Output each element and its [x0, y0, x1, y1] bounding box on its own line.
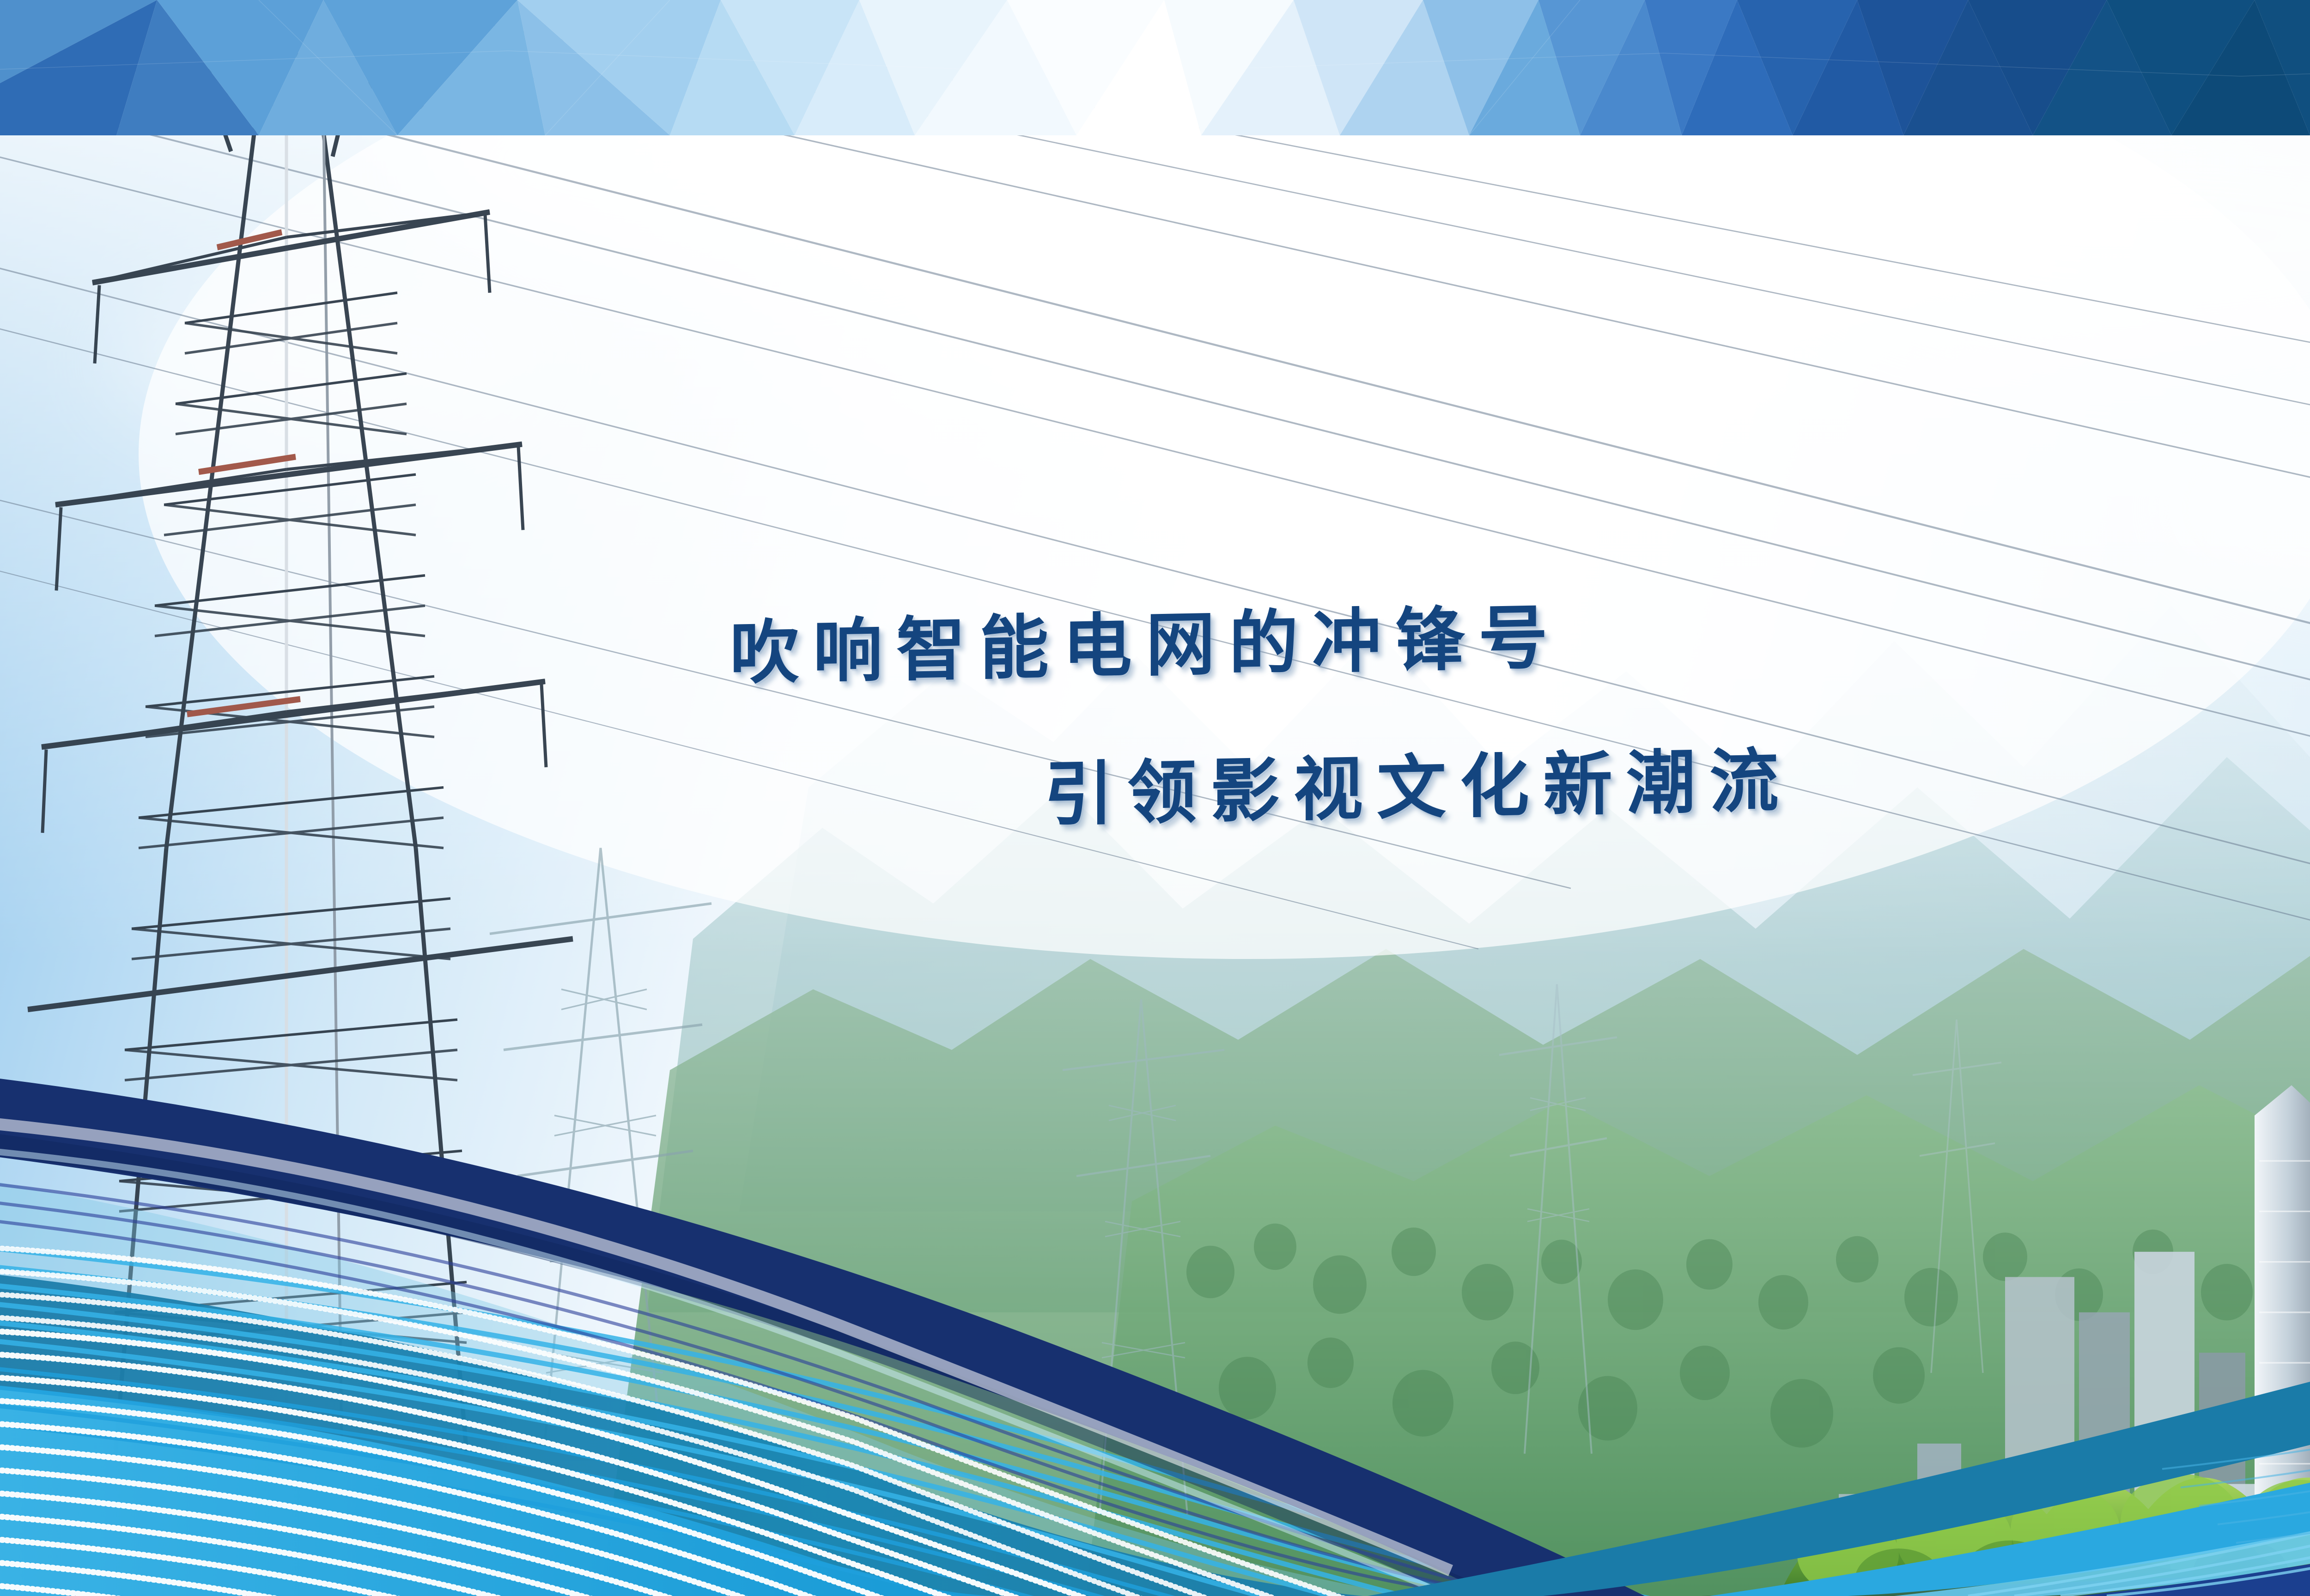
scene-background — [0, 0, 2310, 1461]
low-poly-header-band — [0, 0, 2310, 135]
scene-svg — [0, 0, 2310, 1596]
banner-poster: 吹响智能电网的冲锋号 引领影视文化新潮流 — [0, 0, 2310, 1596]
low-poly-svg — [0, 0, 2310, 135]
